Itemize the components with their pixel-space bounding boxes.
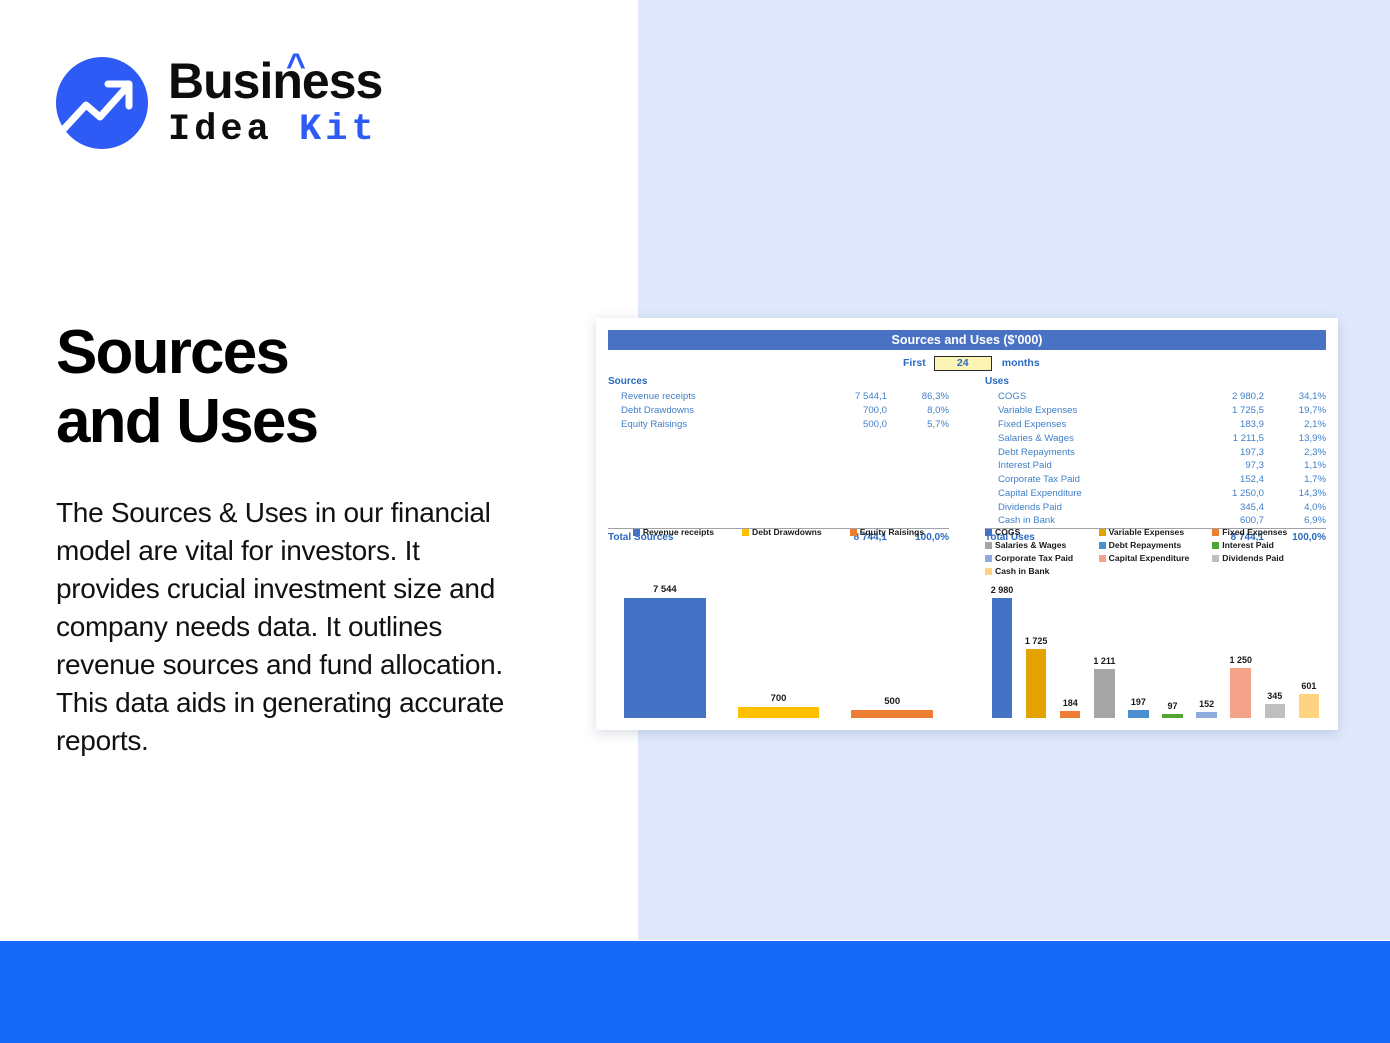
table-row: Salaries & Wages1 211,513,9% (985, 431, 1326, 445)
row-percent: 13,9% (1264, 431, 1326, 445)
period-months-input[interactable]: 24 (934, 356, 992, 371)
row-label: Salaries & Wages (985, 431, 1186, 445)
table-spacer-row (608, 500, 949, 514)
table-row: Corporate Tax Paid152,41,7% (985, 473, 1326, 487)
legend-label: Revenue receipts (643, 526, 714, 539)
legend-label: Capital Expenditure (1109, 552, 1190, 565)
legend-swatch-icon (742, 529, 749, 536)
bar (1196, 712, 1216, 718)
row-label: Dividends Paid (985, 500, 1186, 514)
row-label: Debt Drawdowns (608, 404, 809, 418)
table-row: Variable Expenses1 725,519,7% (985, 404, 1326, 418)
row-percent: 2,1% (1264, 418, 1326, 432)
table-row: Dividends Paid345,44,0% (985, 500, 1326, 514)
row-percent: 5,7% (887, 418, 949, 432)
bar-slot: 1 211 (1087, 568, 1121, 718)
brand-name-secondary: Idea Kit (168, 112, 382, 149)
row-value: 500,0 (809, 418, 887, 432)
period-unit-label: months (1002, 357, 1040, 369)
row-value: 97,3 (1186, 459, 1264, 473)
uses-header: Uses (985, 376, 1326, 390)
row-percent: 86,3% (887, 390, 949, 404)
row-percent: 1,1% (1264, 459, 1326, 473)
legend-item: COGS (985, 526, 1099, 539)
bar-slot: 345 (1258, 568, 1292, 718)
legend-item: Dividends Paid (1212, 552, 1326, 565)
bar-data-label: 2 980 (991, 585, 1014, 595)
table-row: Equity Raisings500,05,7% (608, 418, 949, 432)
legend-item: Equity Raisings (850, 526, 924, 539)
legend-swatch-icon (985, 542, 992, 549)
table-row: Capital Expenditure1 250,014,3% (985, 486, 1326, 500)
bar-slot: 700 (722, 568, 836, 718)
legend-item: Fixed Expenses (1212, 526, 1326, 539)
row-percent: 14,3% (1264, 486, 1326, 500)
bar-data-label: 97 (1168, 701, 1178, 711)
page-description: The Sources & Uses in our financial mode… (56, 494, 506, 761)
uses-table: Uses COGS2 980,234,1%Variable Expenses1 … (985, 376, 1326, 544)
bar-slot: 1 725 (1019, 568, 1053, 718)
row-percent: 19,7% (1264, 404, 1326, 418)
legend-swatch-icon (1212, 542, 1219, 549)
legend-item: Capital Expenditure (1099, 552, 1213, 565)
table-row: Debt Repayments197,32,3% (985, 445, 1326, 459)
brand-circumflex-icon: ^ (286, 49, 305, 83)
table-spacer-row (608, 445, 949, 459)
legend-item: Debt Repayments (1099, 539, 1213, 552)
trending-up-arrow-icon (56, 57, 148, 149)
legend-swatch-icon (985, 529, 992, 536)
bar-slot: 500 (835, 568, 949, 718)
bar (1230, 668, 1250, 718)
bar-slot: 97 (1155, 568, 1189, 718)
row-value: 345,4 (1186, 500, 1264, 514)
bar-slot: 601 (1292, 568, 1326, 718)
bar-data-label: 1 250 (1229, 655, 1252, 665)
row-value: 7 544,1 (809, 390, 887, 404)
sources-chart-plot: 7 544700500 (608, 568, 949, 718)
legend-item: Variable Expenses (1099, 526, 1213, 539)
page-title: Sources and Uses (56, 318, 576, 457)
bar-data-label: 197 (1131, 697, 1146, 707)
legend-item: Salaries & Wages (985, 539, 1099, 552)
bar (624, 598, 706, 718)
bar (1060, 711, 1080, 718)
table-row: COGS2 980,234,1% (985, 390, 1326, 404)
legend-swatch-icon (850, 529, 857, 536)
legend-label: Debt Repayments (1109, 539, 1182, 552)
legend-swatch-icon (633, 529, 640, 536)
row-value: 197,3 (1186, 445, 1264, 459)
legend-label: COGS (995, 526, 1020, 539)
legend-label: Interest Paid (1222, 539, 1274, 552)
bar (851, 710, 933, 718)
row-label: Debt Repayments (985, 445, 1186, 459)
row-percent: 34,1% (1264, 390, 1326, 404)
period-selector-row: First 24 months (608, 354, 1326, 372)
row-label: Corporate Tax Paid (985, 473, 1186, 487)
legend-label: Debt Drawdowns (752, 526, 822, 539)
bar (1299, 694, 1319, 718)
bar-data-label: 152 (1199, 699, 1214, 709)
bar (1162, 714, 1182, 718)
brand-name-kit: Kit (299, 109, 378, 151)
bar (1026, 649, 1046, 718)
legend-swatch-icon (985, 555, 992, 562)
sources-table: Sources Revenue receipts7 544,186,3%Debt… (608, 376, 949, 544)
bar (1265, 704, 1285, 718)
row-percent: 2,3% (1264, 445, 1326, 459)
legend-label: Fixed Expenses (1222, 526, 1287, 539)
row-value: 183,9 (1186, 418, 1264, 432)
bar-slot: 7 544 (608, 568, 722, 718)
bar-data-label: 1 211 (1093, 656, 1115, 666)
legend-item: Debt Drawdowns (742, 526, 822, 539)
table-spacer-row (608, 431, 949, 445)
period-label: First (903, 357, 926, 369)
row-label: COGS (985, 390, 1186, 404)
sources-chart-legend: Revenue receiptsDebt DrawdownsEquity Rai… (608, 526, 949, 539)
table-row: Fixed Expenses183,92,1% (985, 418, 1326, 432)
row-label: Fixed Expenses (985, 418, 1186, 432)
row-label: Revenue receipts (608, 390, 809, 404)
legend-swatch-icon (1099, 542, 1106, 549)
bar-slot: 197 (1121, 568, 1155, 718)
bar (1094, 669, 1114, 718)
table-spacer-row (608, 459, 949, 473)
legend-item: Interest Paid (1212, 539, 1326, 552)
row-label: Interest Paid (985, 459, 1186, 473)
row-label: Equity Raisings (608, 418, 809, 432)
bar-data-label: 1 725 (1025, 636, 1048, 646)
row-value: 1 725,5 (1186, 404, 1264, 418)
legend-label: Variable Expenses (1109, 526, 1184, 539)
row-value: 1 250,0 (1186, 486, 1264, 500)
table-row: Interest Paid97,31,1% (985, 459, 1326, 473)
row-label: Variable Expenses (985, 404, 1186, 418)
brand-logo: Business ^ Idea Kit (56, 56, 382, 149)
row-percent: 1,7% (1264, 473, 1326, 487)
legend-label: Corporate Tax Paid (995, 552, 1073, 565)
bar-data-label: 700 (771, 693, 787, 704)
row-value: 2 980,2 (1186, 390, 1264, 404)
bar (992, 598, 1012, 718)
legend-label: Salaries & Wages (995, 539, 1066, 552)
spreadsheet-panel: Sources and Uses ($'000) First 24 months… (596, 318, 1338, 730)
bar (738, 707, 820, 718)
row-percent: 4,0% (1264, 500, 1326, 514)
bar-data-label: 184 (1063, 698, 1078, 708)
bar-slot: 184 (1053, 568, 1087, 718)
bar-data-label: 601 (1301, 681, 1316, 691)
bar-data-label: 500 (884, 696, 900, 707)
brand-name-primary: Business ^ (168, 56, 382, 106)
uses-chart-plot: 2 9801 7251841 211197971521 250345601 (985, 568, 1326, 718)
sources-chart: Revenue receiptsDebt DrawdownsEquity Rai… (608, 526, 949, 718)
charts-container: Revenue receiptsDebt DrawdownsEquity Rai… (608, 526, 1326, 718)
row-label: Capital Expenditure (985, 486, 1186, 500)
brand-name-primary-text: Business (168, 53, 382, 109)
table-row: Revenue receipts7 544,186,3% (608, 390, 949, 404)
uses-chart: COGSVariable ExpensesFixed ExpensesSalar… (985, 526, 1326, 718)
legend-swatch-icon (1099, 529, 1106, 536)
legend-item: Revenue receipts (633, 526, 714, 539)
panel-title: Sources and Uses ($'000) (608, 330, 1326, 350)
sources-header: Sources (608, 376, 949, 390)
row-percent: 8,0% (887, 404, 949, 418)
bar (1128, 710, 1148, 718)
table-spacer-row (608, 486, 949, 500)
row-value: 1 211,5 (1186, 431, 1264, 445)
bar-slot: 152 (1190, 568, 1224, 718)
table-row: Debt Drawdowns700,08,0% (608, 404, 949, 418)
row-value: 700,0 (809, 404, 887, 418)
tables-container: Sources Revenue receipts7 544,186,3%Debt… (608, 376, 1326, 544)
legend-swatch-icon (1212, 529, 1219, 536)
bar-data-label: 7 544 (653, 584, 677, 595)
legend-label: Dividends Paid (1222, 552, 1284, 565)
legend-swatch-icon (1099, 555, 1106, 562)
bar-slot: 1 250 (1224, 568, 1258, 718)
legend-label: Equity Raisings (860, 526, 924, 539)
legend-item: Corporate Tax Paid (985, 552, 1099, 565)
table-spacer-row (608, 473, 949, 487)
bar-slot: 2 980 (985, 568, 1019, 718)
bar-data-label: 345 (1267, 691, 1282, 701)
legend-swatch-icon (1212, 555, 1219, 562)
footer-band (0, 941, 1390, 1043)
row-value: 152,4 (1186, 473, 1264, 487)
brand-name-idea: Idea (168, 109, 273, 151)
